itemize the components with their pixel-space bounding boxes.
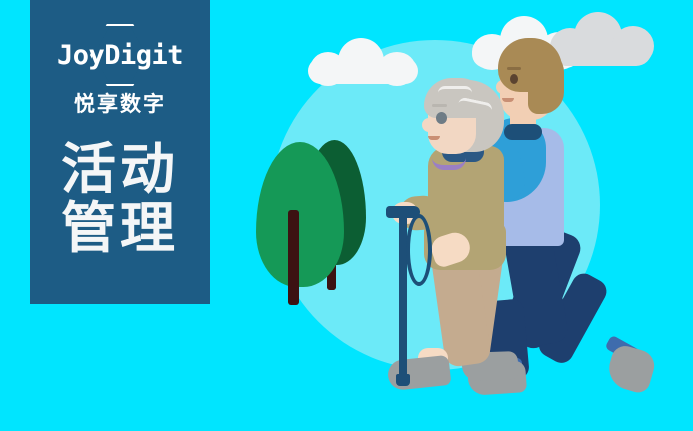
woman-eye	[436, 112, 447, 124]
page-title: 活动 管理	[61, 140, 179, 259]
man-eyebrow	[507, 67, 521, 70]
info-panel: JoyDigit 悦享数字 活动 管理	[30, 0, 210, 304]
man-hair-back	[528, 50, 564, 114]
cloud-left-icon	[308, 38, 418, 80]
brand-subtitle: 悦享数字	[74, 88, 166, 118]
page-title-line-1: 活动	[61, 140, 179, 199]
man-collar	[504, 124, 542, 140]
cloud-top-gray-icon	[550, 12, 652, 64]
page-title-line-2: 管理	[61, 199, 179, 258]
cane-tip	[396, 374, 410, 386]
brand-wordmark: JoyDigit	[57, 40, 183, 71]
cane-wrist-strap	[406, 214, 432, 286]
woman-nose	[422, 118, 434, 132]
illustration-scene	[210, 0, 693, 431]
poster-canvas: JoyDigit 悦享数字 活动 管理	[0, 0, 693, 431]
man-eye	[510, 74, 518, 84]
woman-front-shoe	[387, 355, 452, 391]
brand-logo: JoyDigit	[45, 28, 195, 82]
woman-eyebrow	[432, 104, 447, 107]
